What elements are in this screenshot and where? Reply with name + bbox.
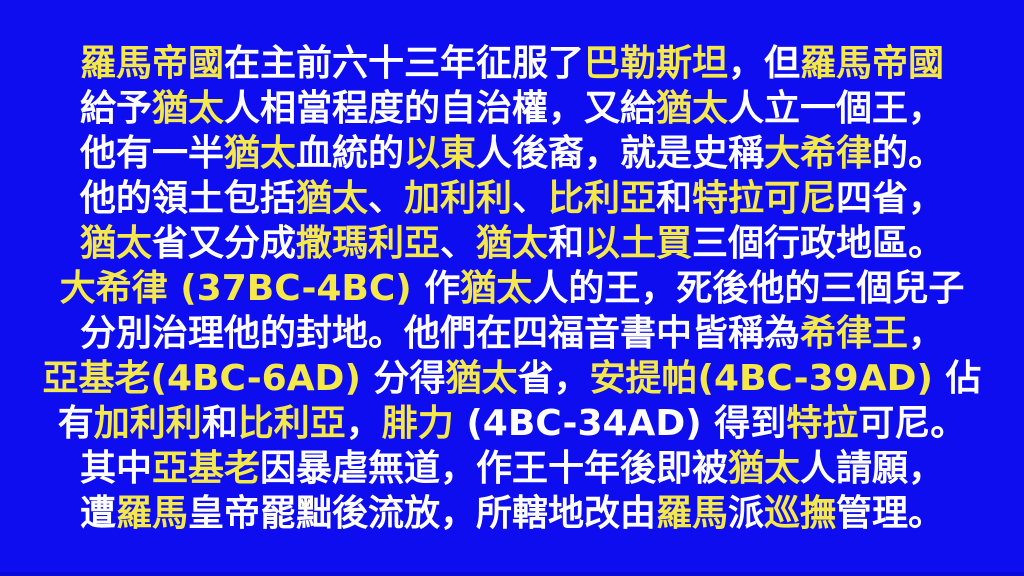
text-line: 其中亞基老因暴虐無道，作王十年後即被猶太人請願， — [42, 446, 982, 491]
body-text: 和 — [656, 178, 692, 219]
body-text: 佔 — [933, 358, 982, 399]
highlighted-term: 腓力 — [382, 403, 454, 444]
text-line: 他的領土包括猶太、加利利、比利亞和特拉可尼四省， — [42, 176, 982, 221]
body-text: 派 — [728, 493, 764, 534]
highlighted-term: 大希律 — [764, 133, 872, 174]
body-text: 可尼。 — [858, 403, 966, 444]
highlighted-term: 比利亞 — [238, 403, 346, 444]
highlighted-term: 亞基老 — [152, 448, 260, 489]
highlighted-term: 大希律 (37BC-4BC) — [60, 268, 412, 309]
body-text: 有 — [58, 403, 94, 444]
body-text: 他的領土包括 — [80, 178, 296, 219]
highlighted-term: 撒瑪利亞 — [296, 223, 440, 264]
text-line: 遭羅馬皇帝罷黜後流放，所轄地改由羅馬派巡撫管理。 — [42, 491, 982, 536]
body-text: 省， — [517, 358, 589, 399]
body-text: 皇帝罷黜後流放，所轄地改由 — [188, 493, 656, 534]
body-text: 和 — [548, 223, 584, 264]
body-text: 的。 — [872, 133, 944, 174]
body-text: 人後裔，就是史稱 — [476, 133, 764, 174]
body-text: 因暴虐無道，作王十年後即被 — [260, 448, 728, 489]
body-text: (4BC-34AD) 得到 — [454, 403, 787, 444]
body-text: 人請願， — [800, 448, 944, 489]
highlighted-term: 巴勒斯坦 — [584, 43, 728, 84]
body-text: 管理。 — [836, 493, 944, 534]
body-text: 分別治理他的封地。他們在四福音書中皆稱為 — [80, 313, 800, 354]
highlighted-term: 猶太 — [728, 448, 800, 489]
text-line: 分別治理他的封地。他們在四福音書中皆稱為希律王， — [42, 311, 982, 356]
highlighted-term: 羅馬 — [656, 493, 728, 534]
highlighted-term: 巡撫 — [764, 493, 836, 534]
text-line: 給予猶太人相當程度的自治權，又給猶太人立一個王， — [42, 86, 982, 131]
highlighted-term: 羅馬帝國 — [800, 43, 944, 84]
body-text: 在主前六十三年征服了 — [224, 43, 584, 84]
highlighted-term: 猶太 — [152, 88, 224, 129]
highlighted-term: 比利亞 — [548, 178, 656, 219]
highlighted-term: 亞基老(4BC-6AD) — [43, 358, 361, 399]
highlighted-term: 猶太 — [445, 358, 517, 399]
text-line: 猶太省又分成撒瑪利亞、猶太和以土買三個行政地區。 — [42, 221, 982, 266]
highlighted-term: 猶太 — [296, 178, 368, 219]
body-text: 省又分成 — [152, 223, 296, 264]
highlighted-term: 猶太 — [80, 223, 152, 264]
text-line: 有加利利和比利亞，腓力 (4BC-34AD) 得到特拉可尼。 — [42, 401, 982, 446]
highlighted-term: 加利利 — [94, 403, 202, 444]
highlighted-term: 羅馬 — [116, 493, 188, 534]
text-line: 亞基老(4BC-6AD) 分得猶太省，安提帕(4BC-39AD) 佔 — [42, 356, 982, 401]
body-text: 分得 — [361, 358, 446, 399]
body-text: 人立一個王， — [728, 88, 944, 129]
highlighted-term: 希律王 — [800, 313, 908, 354]
highlighted-term: 猶太 — [476, 223, 548, 264]
body-text: ， — [346, 403, 382, 444]
text-line: 羅馬帝國在主前六十三年征服了巴勒斯坦，但羅馬帝國 — [42, 41, 982, 86]
body-text: 、 — [440, 223, 476, 264]
body-text: 和 — [202, 403, 238, 444]
highlighted-term: 特拉 — [786, 403, 858, 444]
highlighted-term: 加利利 — [404, 178, 512, 219]
highlighted-term: 猶太 — [460, 268, 532, 309]
body-text: 遭 — [80, 493, 116, 534]
body-text: 其中 — [80, 448, 152, 489]
highlighted-term: 猶太 — [656, 88, 728, 129]
body-text: ，但 — [728, 43, 800, 84]
highlighted-term: 羅馬帝國 — [80, 43, 224, 84]
body-text: 給予 — [80, 88, 152, 129]
highlighted-term: 以土買 — [584, 223, 692, 264]
body-text: 人相當程度的自治權，又給 — [224, 88, 656, 129]
presentation-slide: 羅馬帝國在主前六十三年征服了巴勒斯坦，但羅馬帝國給予猶太人相當程度的自治權，又給… — [0, 0, 1024, 576]
text-line: 他有一半猶太血統的以東人後裔，就是史稱大希律的。 — [42, 131, 982, 176]
body-text: 作 — [412, 268, 461, 309]
body-text: ， — [908, 313, 944, 354]
text-line: 大希律 (37BC-4BC) 作猶太人的王，死後他的三個兒子 — [42, 266, 982, 311]
body-text: 他有一半 — [80, 133, 224, 174]
body-text: 血統的 — [296, 133, 404, 174]
body-text: 、 — [368, 178, 404, 219]
highlighted-term: 安提帕(4BC-39AD) — [589, 358, 932, 399]
body-text: 四省， — [836, 178, 944, 219]
highlighted-term: 猶太 — [224, 133, 296, 174]
highlighted-term: 特拉可尼 — [692, 178, 836, 219]
slide-text-body: 羅馬帝國在主前六十三年征服了巴勒斯坦，但羅馬帝國給予猶太人相當程度的自治權，又給… — [0, 0, 1024, 576]
bottom-edge-band — [0, 572, 1024, 576]
highlighted-term: 以東 — [404, 133, 476, 174]
body-text: 、 — [512, 178, 548, 219]
body-text: 三個行政地區。 — [692, 223, 944, 264]
body-text: 人的王，死後他的三個兒子 — [532, 268, 964, 309]
